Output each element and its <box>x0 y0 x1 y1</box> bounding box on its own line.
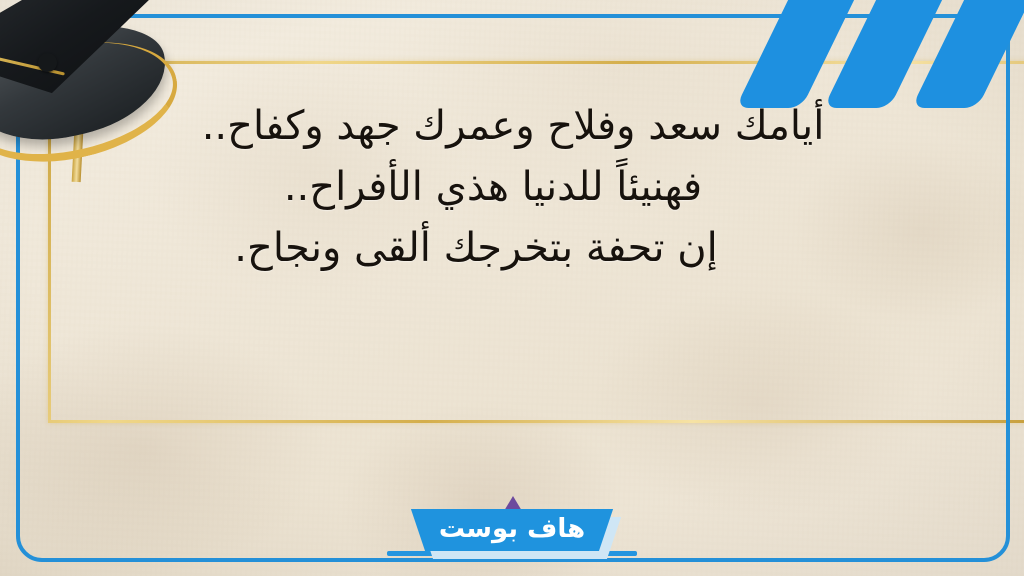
poem-line-1: أيامك سعد وفلاح وعمرك جهد وكفاح.. <box>60 96 966 157</box>
cap-button <box>38 53 57 72</box>
diagonal-stripes-decoration <box>728 0 988 108</box>
poem-text-block: أيامك سعد وفلاح وعمرك جهد وكفاح.. فهنيئا… <box>60 96 966 278</box>
brand-badge: هاف بوست <box>411 509 613 551</box>
watermark-logo: هاف بوست <box>0 498 1024 562</box>
brand-name: هاف بوست <box>439 514 585 544</box>
poem-line-3: إن تحفة بتخرجك ألقى ونجاح. <box>60 218 966 279</box>
poem-line-2: فهنيئاً للدنيا هذي الأفراح.. <box>60 157 966 218</box>
logo-peak-icon <box>504 496 522 511</box>
logo-plate: هاف بوست <box>411 509 613 551</box>
graduation-card: أيامك سعد وفلاح وعمرك جهد وكفاح.. فهنيئا… <box>0 0 1024 576</box>
